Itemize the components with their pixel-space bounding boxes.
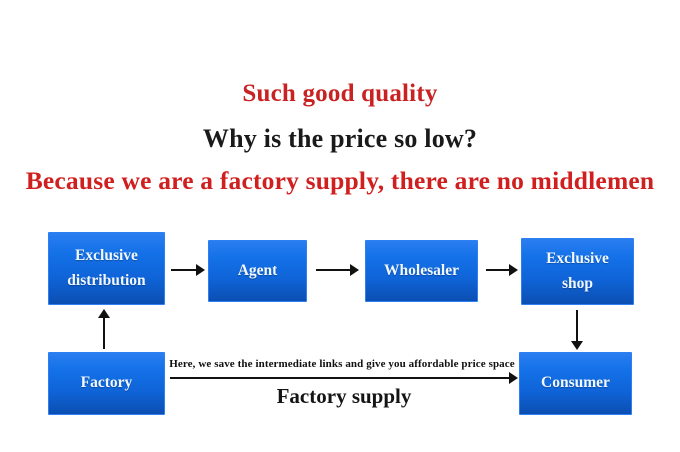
arrow-right-icon-distribution-to-agent [171, 264, 205, 276]
caption-factory-supply: Factory supply [170, 384, 518, 409]
diagram-canvas: Such good quality Why is the price so lo… [0, 0, 680, 452]
arrow-head [509, 264, 518, 276]
flow-box-label: Factory [77, 371, 137, 395]
arrow-head [350, 264, 359, 276]
arrow-shaft [103, 317, 105, 349]
flow-box-exclusive-distribution: Exclusivedistribution [48, 232, 165, 305]
arrow-up-icon-factory-to-distribution [98, 309, 110, 349]
arrow-shaft [316, 269, 352, 271]
headline-factory-supply-reason: Because we are a factory supply, there a… [0, 166, 680, 196]
arrow-head [196, 264, 205, 276]
flow-box-wholesaler: Wholesaler [365, 240, 478, 302]
arrow-shaft [171, 269, 198, 271]
headline-quality: Such good quality [0, 80, 680, 108]
caption-savings-note: Here, we save the intermediate links and… [166, 358, 518, 370]
arrow-shaft [170, 377, 511, 379]
arrow-shaft [576, 310, 578, 342]
flow-box-consumer: Consumer [519, 352, 632, 415]
flow-box-label: Exclusivedistribution [63, 244, 149, 292]
arrow-head [571, 341, 583, 350]
flow-box-agent: Agent [208, 240, 307, 302]
flow-box-label: Exclusiveshop [542, 247, 613, 295]
arrow-head [98, 309, 110, 318]
headline-price-question: Why is the price so low? [0, 124, 680, 154]
arrow-down-icon-shop-to-consumer [571, 310, 583, 350]
flow-box-factory: Factory [48, 352, 165, 415]
flow-box-label: Wholesaler [380, 259, 463, 283]
arrow-right-icon-factory-to-consumer [170, 372, 518, 384]
arrow-right-icon-agent-to-wholesaler [316, 264, 359, 276]
arrow-right-icon-wholesaler-to-shop [486, 264, 518, 276]
flow-box-label: Agent [234, 259, 282, 283]
arrow-shaft [486, 269, 511, 271]
flow-box-label: Consumer [537, 371, 614, 395]
flow-box-exclusive-shop: Exclusiveshop [521, 238, 634, 305]
arrow-head [509, 372, 518, 384]
